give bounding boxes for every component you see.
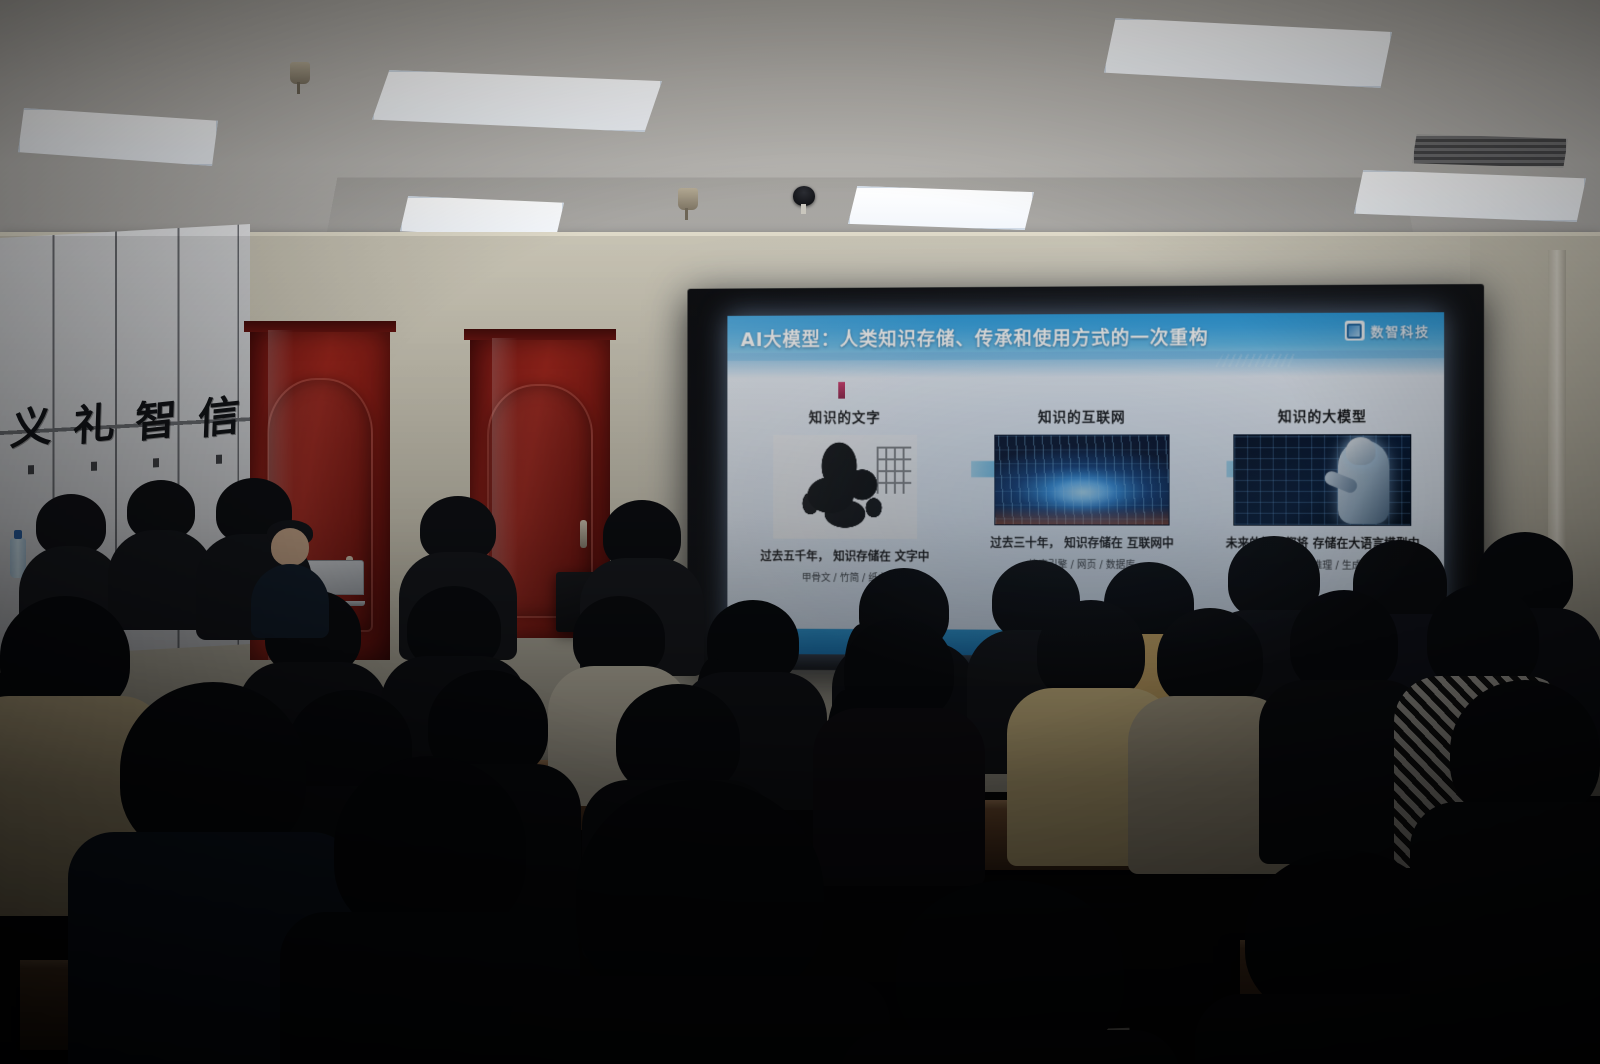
attendee [560,780,840,1064]
seal-mark-icon [28,465,34,474]
slide-column-1: 知识的文字 过去五千年， 知识存储在 文字中 甲骨文 / 竹简 / 纸书 [749,407,941,586]
ancient-script-marks [876,447,911,494]
attendee [836,618,962,868]
attendee [1150,608,1270,858]
sprinkler-icon [290,62,310,84]
brand-name: 数智科技 [1371,321,1431,340]
attendee [880,880,1140,1064]
door-handle-icon[interactable] [580,520,587,548]
slide-red-marker [838,382,845,399]
presenter [258,520,322,630]
calligraphy-char: 智 [135,398,178,445]
calligraphy-char: 礼 [72,401,115,448]
seal-mark-icon [153,458,159,467]
column-heading: 知识的大模型 [1224,406,1422,426]
ceiling-light-panel [848,186,1034,230]
company-logo-icon [1345,321,1365,341]
ceiling-light-panel [1354,170,1586,222]
door-frame-top [464,329,616,340]
city-warm-lights [995,507,1168,525]
calligraphy-panels: 义 礼 智 信 [0,356,250,490]
calligraphy-char: 信 [197,394,240,441]
column-heading: 知识的互联网 [985,407,1180,427]
calligraphy-panel: 义 [0,367,63,490]
slide-title-bar: AI大模型：人类知识存储、传承和使用方式的一次重构 数智科技 [727,312,1444,361]
slide-column-2: 知识的互联网 过去三十年， 知识存储在 互联网中 搜索引擎 / 网页 / 数据库 [985,407,1180,574]
attendee [1282,590,1406,850]
sprinkler-icon [678,188,698,210]
digital-city-image [994,434,1169,525]
door-frame-top [244,321,396,332]
ai-robot-image [1234,434,1412,526]
seal-mark-icon [91,462,97,471]
column-heading: 知识的文字 [749,407,941,427]
calligraphy-panel: 礼 [63,363,126,486]
seal-mark-icon [216,455,222,464]
attendee [320,756,540,1064]
calligraphy-char: 义 [10,405,53,452]
column-caption: 过去三十年， 知识存储在 互联网中 [985,535,1180,553]
hvac-vent-icon [1412,134,1568,168]
calligraphy-panel: 信 [188,356,251,479]
presentation-room-photo: 义 礼 智 信 AI大模型：人类知识存储、传承和使 [0,0,1600,1064]
dome-camera-icon [793,186,815,206]
column-caption: 过去五千年， 知识存储在 文字中 [749,548,941,566]
robot-head [1346,437,1376,465]
slide-title: AI大模型：人类知识存储、传承和使用方式的一次重构 [741,323,1209,352]
attendee [1440,680,1600,1060]
brand-block: 数智科技 [1345,320,1430,340]
calligraphy-panel: 智 [125,360,188,483]
oracle-bone-image [773,435,917,539]
